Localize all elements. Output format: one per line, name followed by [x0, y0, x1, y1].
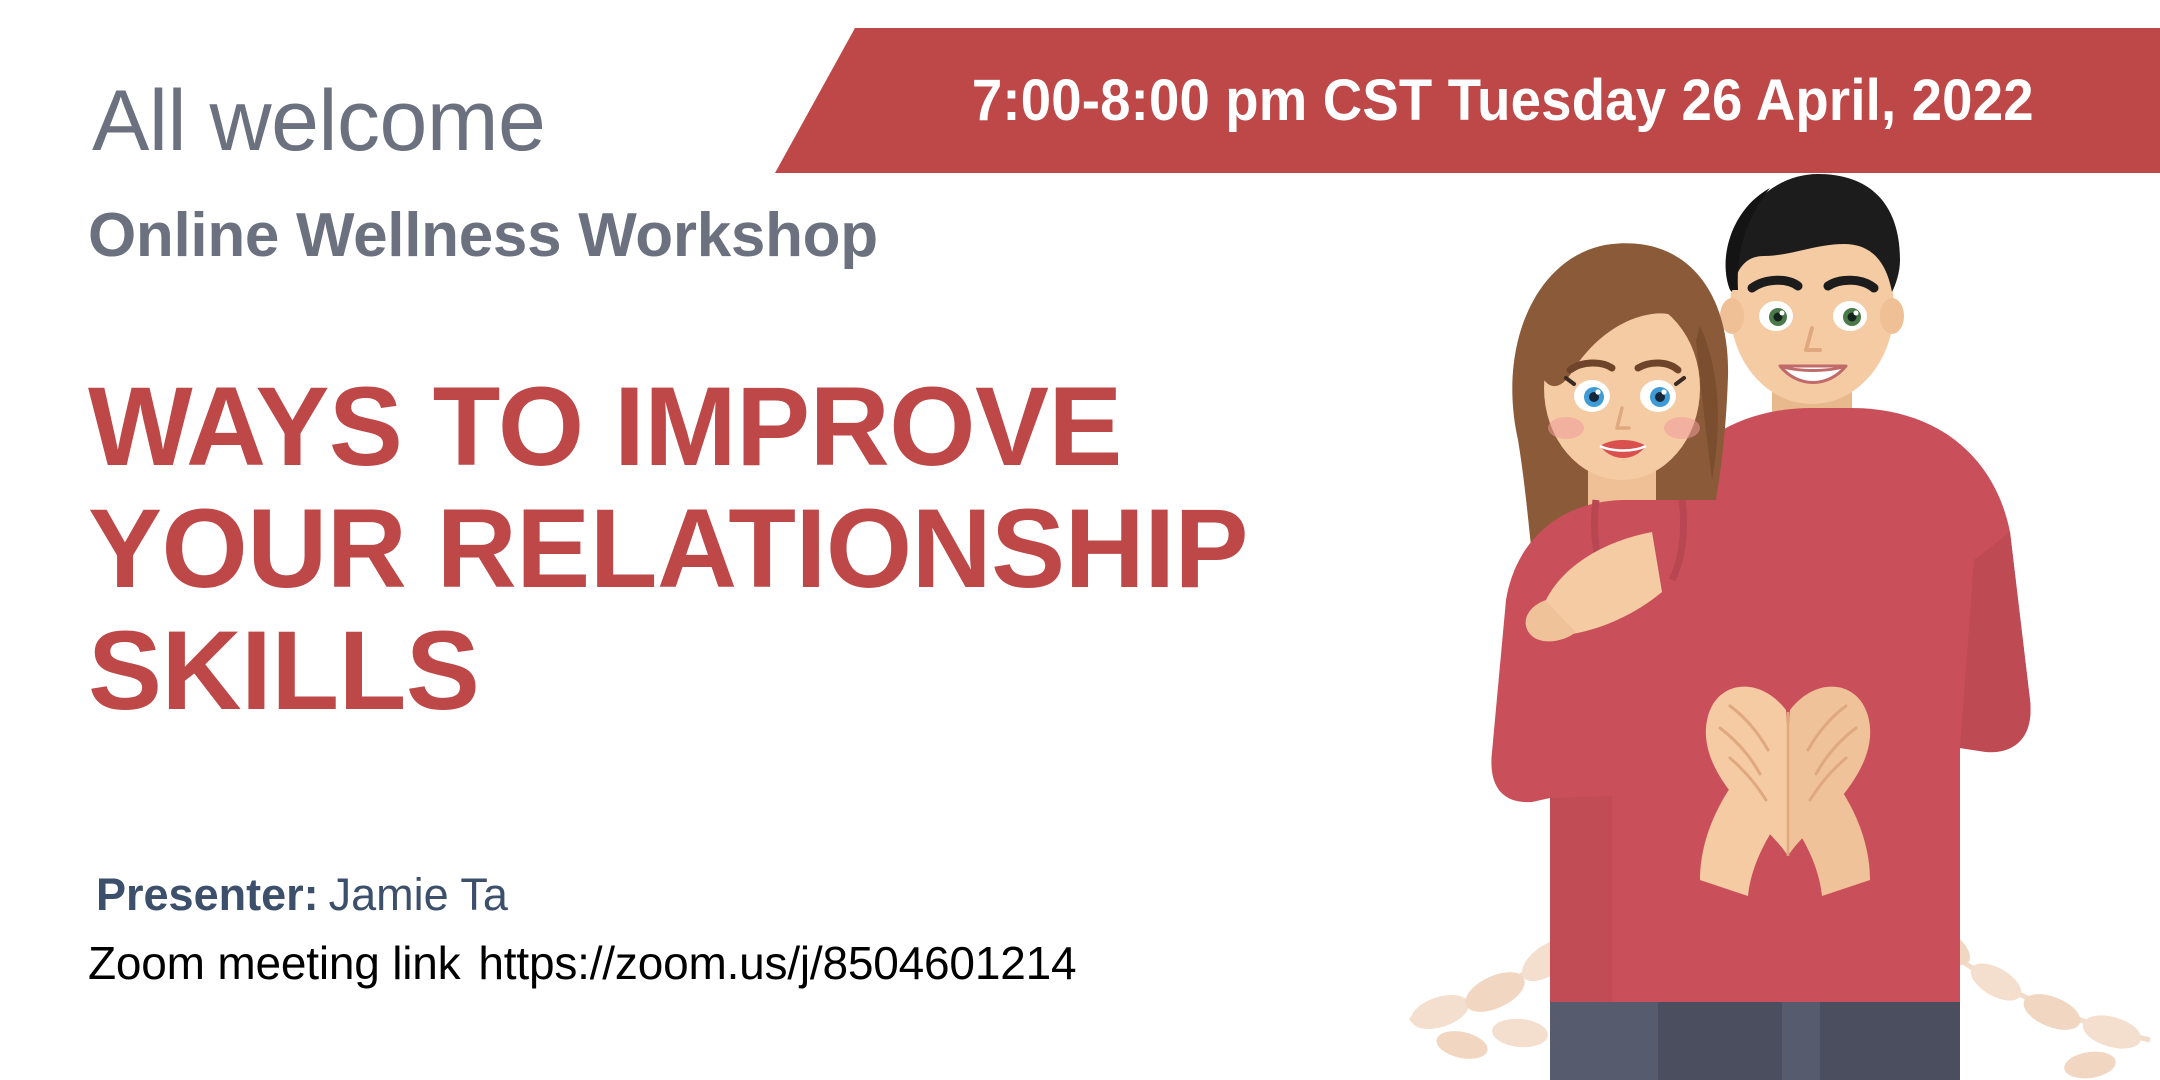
- text-content-column: All welcome Online Wellness Workshop WAY…: [88, 0, 1418, 1080]
- zoom-meeting-url[interactable]: https://zoom.us/j/8504601214: [478, 937, 1076, 989]
- workshop-subtitle: Online Wellness Workshop: [88, 205, 878, 267]
- couple-making-heart-hands-illustration: [1400, 140, 2160, 1080]
- presenter-line: Presenter:Jamie Ta: [96, 872, 508, 917]
- event-flyer: 7:00-8:00 pm CST Tuesday 26 April, 2022 …: [0, 0, 2160, 1080]
- headline-line-3: SKILLS: [88, 614, 1375, 728]
- zoom-link-label: Zoom meeting link: [88, 937, 460, 989]
- headline-line-2: YOUR RELATIONSHIP: [88, 492, 1375, 606]
- all-welcome-text: All welcome: [92, 78, 545, 164]
- presenter-label: Presenter:: [96, 869, 319, 920]
- main-headline: WAYS TO IMPROVE YOUR RELATIONSHIP SKILLS: [88, 370, 1388, 737]
- presenter-name: Jamie Ta: [329, 869, 508, 920]
- zoom-meeting-line: Zoom meeting linkhttps://zoom.us/j/85046…: [88, 940, 1076, 986]
- headline-line-1: WAYS TO IMPROVE: [88, 370, 1375, 484]
